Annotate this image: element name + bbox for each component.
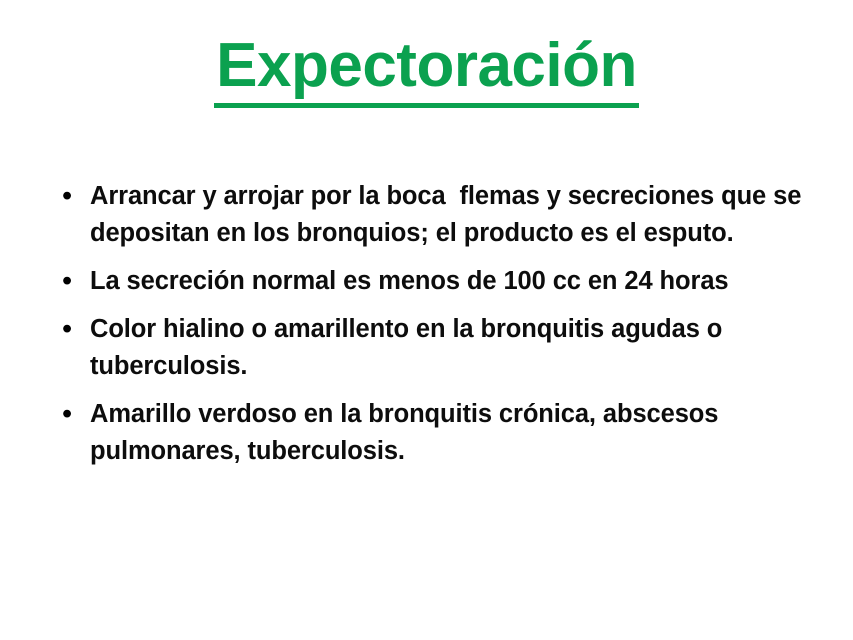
- list-item: • Arrancar y arrojar por la boca flemas …: [56, 178, 831, 252]
- bullet-point-icon: •: [56, 396, 90, 433]
- page-title: Expectoración: [214, 34, 639, 108]
- list-item-text: Arrancar y arrojar por la boca flemas y …: [90, 178, 831, 252]
- bullet-point-icon: •: [56, 178, 90, 215]
- bullet-point-icon: •: [56, 263, 90, 300]
- list-item-text: La secreción normal es menos de 100 cc e…: [90, 263, 831, 300]
- slide-title-container: Expectoración: [0, 34, 853, 108]
- list-item-text: Amarillo verdoso en la bronquitis crónic…: [90, 396, 831, 470]
- list-item-text: Color hialino o amarillento en la bronqu…: [90, 311, 831, 385]
- presentation-slide: Expectoración • Arrancar y arrojar por l…: [0, 0, 853, 640]
- bullet-point-icon: •: [56, 311, 90, 348]
- list-item: • La secreción normal es menos de 100 cc…: [56, 263, 831, 300]
- list-item: • Amarillo verdoso en la bronquitis crón…: [56, 396, 831, 470]
- list-item: • Color hialino o amarillento en la bron…: [56, 311, 831, 385]
- slide-body-bullet-list: • Arrancar y arrojar por la boca flemas …: [56, 178, 831, 481]
